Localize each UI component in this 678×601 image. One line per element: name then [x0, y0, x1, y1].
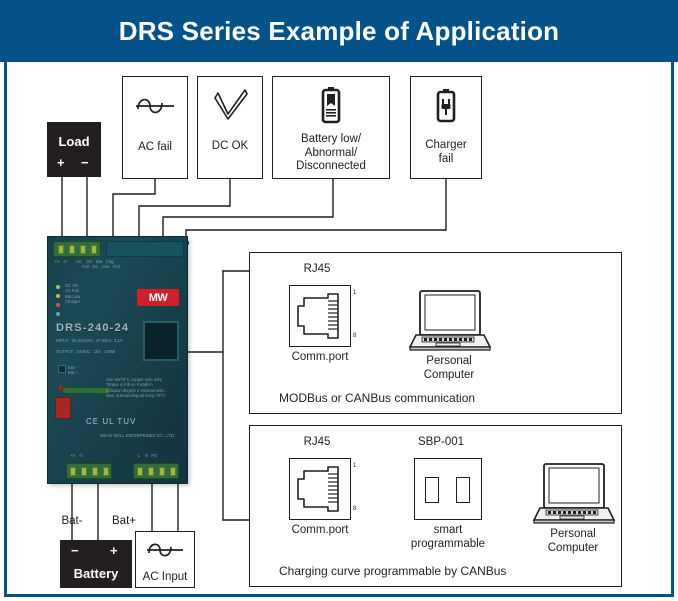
psu-terminal-output	[53, 241, 101, 257]
signal-box-dc-ok: DC OK	[197, 76, 263, 179]
signal-label-battery-3: Disconnected	[296, 160, 366, 174]
sbp-caption-2: programmable	[393, 538, 503, 552]
load-label: Load	[47, 134, 101, 149]
signal-box-battery-status: Battery low/ Abnormal/ Disconnected	[272, 76, 390, 179]
sine-wave-icon	[134, 91, 176, 126]
psu-certification-marks: CE UL TUV	[86, 417, 136, 426]
pc-label-canbus-2: Computer	[527, 542, 619, 556]
psu-signal-header	[106, 241, 184, 257]
check-mark-icon	[209, 88, 251, 126]
panel-canbus-programming: RJ45 1 8 Comm.port SBP-001	[249, 425, 622, 587]
psu-terminal-battery	[66, 463, 112, 479]
psu-led-charger	[56, 312, 60, 316]
load-minus: −	[81, 155, 89, 170]
psu-model-label: DRS-240-24	[56, 322, 129, 334]
rj45-pin-top-canbus: 1	[353, 463, 356, 469]
page-title: DRS Series Example of Application	[0, 0, 678, 62]
pc-label-modbus-1: Personal	[403, 355, 495, 369]
signal-label-battery-2: Abnormal/	[305, 147, 357, 161]
rj45-jack-icon-modbus	[289, 285, 351, 347]
psu-spec-1: INPUT : 90-264VAC 47-63Hz 3.2A	[56, 338, 146, 343]
laptop-icon-canbus	[530, 462, 616, 533]
psu-terminal-ac-input	[133, 463, 179, 479]
power-supply-unit: +V -V AC DC Bat. Chg. Fail OK Low Fail D…	[47, 236, 188, 484]
rj45-label-modbus: RJ45	[282, 263, 352, 277]
battery-box: − + Battery	[60, 540, 132, 588]
sbp-module-icon	[414, 458, 482, 520]
load-box: Load + −	[47, 122, 101, 177]
panel-modbus-communication: RJ45 1 8 Comm.port	[249, 252, 622, 414]
ac-input-label: AC Input	[143, 571, 188, 585]
psu-led-bat-low	[56, 303, 60, 307]
comm-port-label-modbus: Comm.port	[275, 351, 365, 365]
panel-caption-modbus: MODBus or CANBus communication	[279, 391, 475, 405]
rj45-jack-icon-canbus	[289, 458, 351, 520]
psu-led-ac-fail	[56, 294, 60, 298]
psu-spec-2: OUTPUT : 24VDC 10A 240W	[56, 349, 146, 354]
sbp-caption-1: smart	[403, 524, 493, 538]
battery-charger-icon	[434, 88, 458, 129]
comm-port-label-canbus: Comm.port	[275, 524, 365, 538]
rj45-pin-top-modbus: 1	[353, 290, 356, 296]
rj45-pin-bottom-canbus: 8	[353, 506, 356, 512]
signal-label-charger-1: Charger	[425, 139, 467, 153]
sine-wave-icon	[145, 537, 185, 568]
label-bat-plus: Bat+	[100, 515, 148, 529]
psu-led-dc-ok	[56, 285, 60, 289]
battery-low-icon	[318, 86, 344, 129]
rj45-label-canbus: RJ45	[282, 436, 352, 450]
signal-label-battery-1: Battery low/	[301, 133, 361, 147]
psu-red-component	[55, 397, 71, 419]
psu-display-window	[143, 321, 179, 361]
signal-box-charger-fail: Charger fail	[410, 76, 482, 179]
label-bat-minus: Bat-	[48, 515, 96, 529]
pc-label-modbus-2: Computer	[403, 369, 495, 383]
brand-logo: MW	[137, 289, 179, 306]
signal-label-charger-2: fail	[439, 153, 454, 167]
ac-input-box: AC Input	[135, 531, 195, 588]
signal-label-ac-fail: AC fail	[138, 141, 172, 155]
battery-plus: +	[110, 543, 118, 558]
battery-minus: −	[71, 543, 79, 558]
pc-label-canbus-1: Personal	[527, 528, 619, 542]
load-plus: +	[57, 155, 65, 170]
battery-label: Battery	[60, 566, 132, 581]
application-diagram-page: DRS Series Example of Application	[0, 0, 678, 601]
sbp-label: SBP-001	[396, 436, 486, 450]
signal-box-ac-fail: AC fail	[122, 76, 188, 179]
laptop-icon-modbus	[406, 289, 492, 360]
header-bar: DRS Series Example of Application	[0, 0, 678, 62]
signal-label-dc-ok: DC OK	[212, 140, 248, 154]
panel-caption-canbus: Charging curve programmable by CANBus	[279, 564, 506, 578]
rj45-pin-bottom-modbus: 8	[353, 333, 356, 339]
